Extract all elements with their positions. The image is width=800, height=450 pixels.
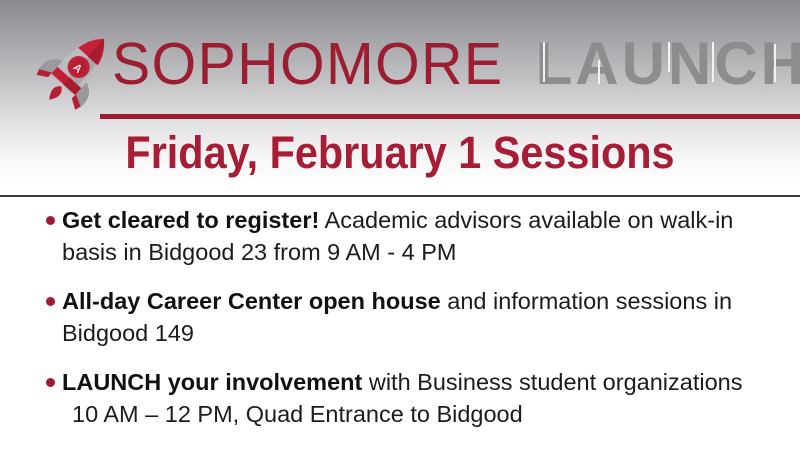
wordmark-sophomore: SOPHOMORE bbox=[112, 35, 504, 94]
sophomore-launch-flyer: A SOPHOMORE LAUNCH Friday, February 1 Se… bbox=[0, 0, 800, 450]
logo-wordmark: SOPHOMORE LAUNCH bbox=[112, 28, 800, 100]
crimson-divider bbox=[100, 114, 800, 119]
bullet-dot-icon bbox=[46, 297, 55, 306]
bullet-dot-icon bbox=[46, 378, 55, 387]
session-list: Get cleared to register! Academic adviso… bbox=[0, 205, 800, 448]
list-item-text: Academic advisors available on walk-in bbox=[319, 207, 733, 233]
bullet-dot-icon bbox=[46, 216, 55, 225]
list-item: LAUNCH your involvement with Business st… bbox=[0, 367, 800, 431]
wordmark-launch: LAUNCH bbox=[536, 34, 800, 94]
list-item-lead: LAUNCH your involvement bbox=[62, 369, 362, 395]
list-item-text-line2: basis in Bidgood 23 from 9 AM - 4 PM bbox=[62, 237, 782, 269]
list-item-lead: All-day Career Center open house bbox=[62, 288, 441, 314]
list-item-lead: Get cleared to register! bbox=[62, 207, 319, 233]
list-item-text: and information sessions in bbox=[441, 288, 732, 314]
header-bottom-divider bbox=[0, 195, 800, 197]
wordmark-launch-text: LAUNCH bbox=[536, 30, 800, 97]
list-item: Get cleared to register! Academic adviso… bbox=[0, 205, 800, 269]
subtitle-date: Friday, February 1 Sessions bbox=[32, 128, 768, 178]
list-item: All-day Career Center open house and inf… bbox=[0, 286, 800, 350]
list-item-text-line2: 10 AM – 12 PM, Quad Entrance to Bidgood bbox=[62, 399, 782, 431]
list-item-text: with Business student organizations bbox=[362, 369, 742, 395]
rocket-icon: A bbox=[26, 22, 122, 118]
list-item-text-line2: Bidgood 149 bbox=[62, 318, 782, 350]
